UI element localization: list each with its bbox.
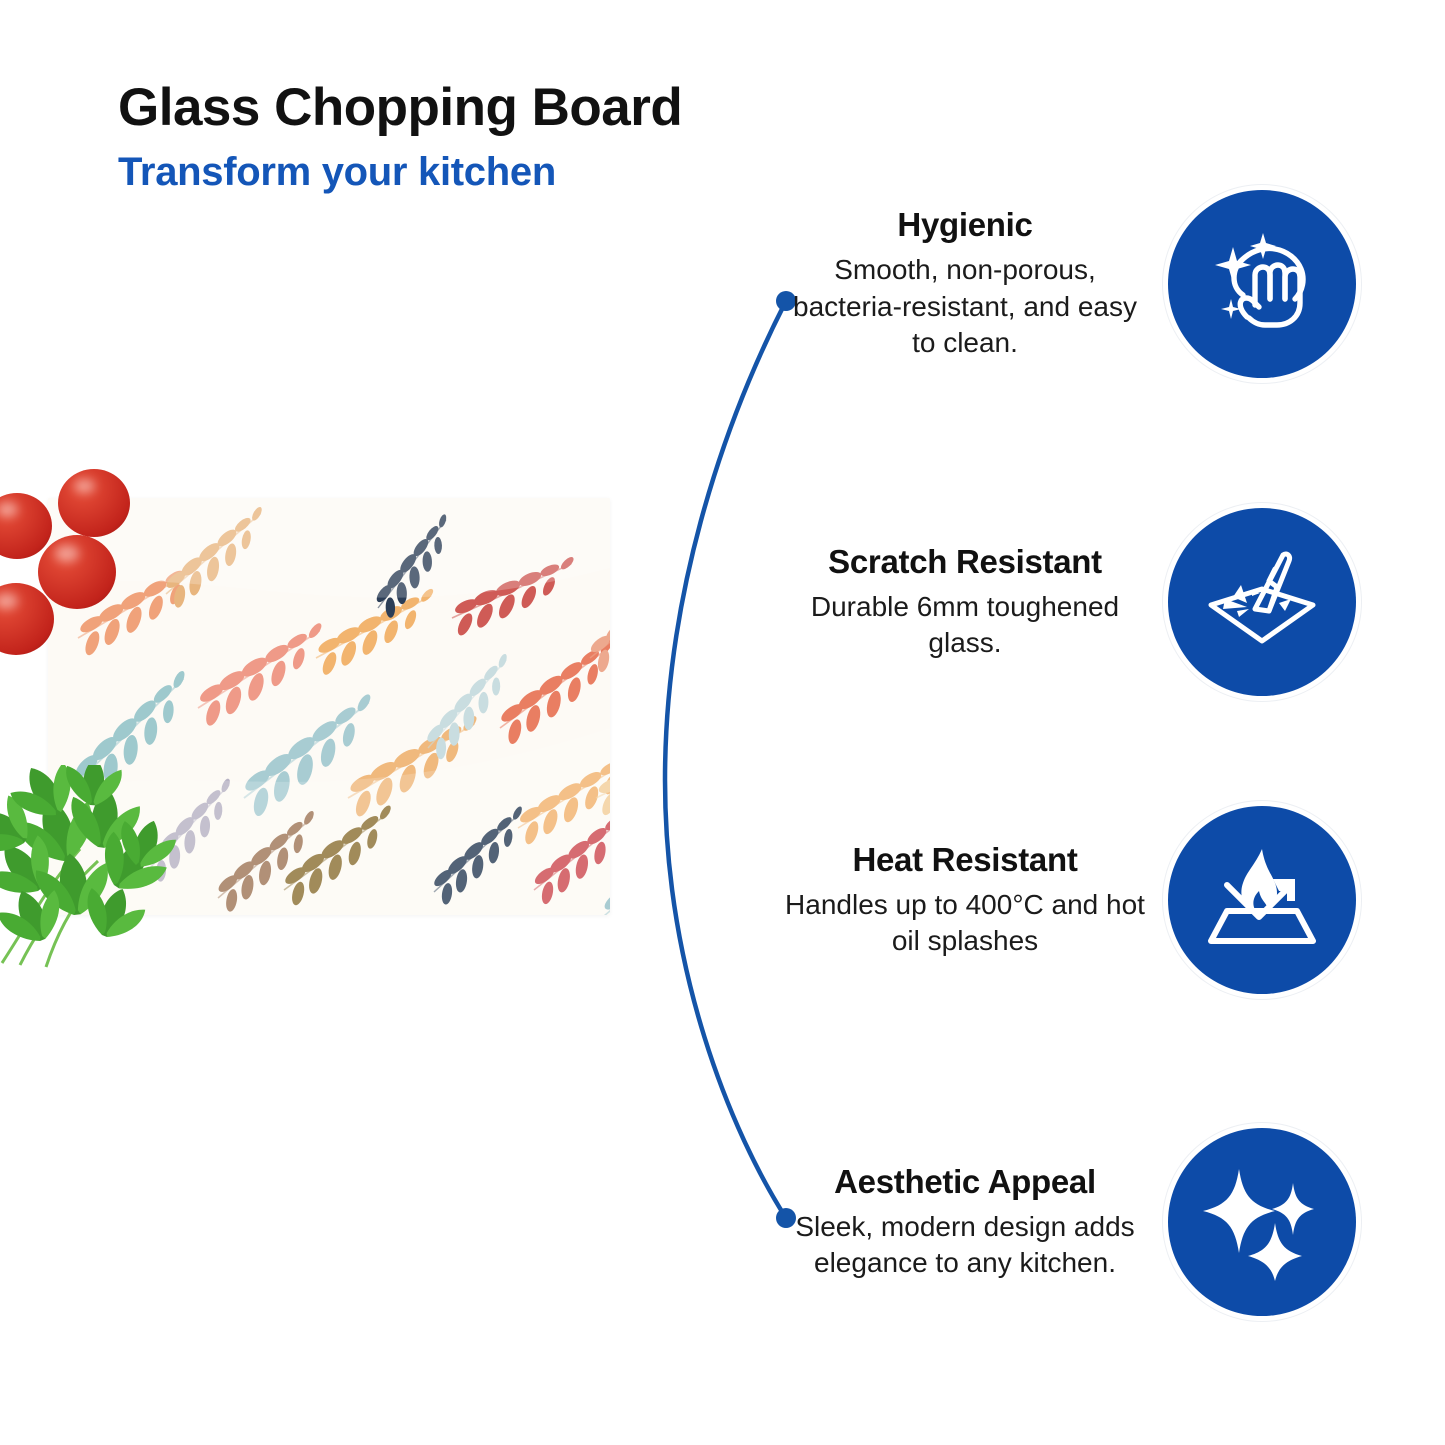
- feature-title: Hygienic: [897, 206, 1032, 244]
- flame-deflect-icon: [1203, 841, 1321, 959]
- header-block: Glass Chopping Board Transform your kitc…: [118, 80, 878, 194]
- feature-title: Heat Resistant: [852, 841, 1077, 879]
- feature-text-aesthetic-appeal: Aesthetic Appeal Sleek, modern design ad…: [780, 1163, 1168, 1282]
- infographic-canvas: Glass Chopping Board Transform your kitc…: [0, 0, 1445, 1445]
- feature-description: Sleek, modern design adds elegance to an…: [780, 1209, 1150, 1282]
- parsley-graphic: [0, 765, 209, 975]
- feature-title: Scratch Resistant: [828, 543, 1102, 581]
- tomato: [58, 469, 130, 537]
- feature-icon-badge-scratch-resistant[interactable]: [1168, 508, 1356, 696]
- feature-icon-badge-aesthetic-appeal[interactable]: [1168, 1128, 1356, 1316]
- tomato: [0, 493, 52, 559]
- page-title: Glass Chopping Board: [118, 80, 878, 136]
- parsley-bunch: [0, 765, 209, 975]
- knife-on-surface-icon: [1203, 543, 1321, 661]
- feature-icon-badge-heat-resistant[interactable]: [1168, 806, 1356, 994]
- feature-row-scratch-resistant: Scratch Resistant Durable 6mm toughened …: [780, 508, 1356, 696]
- sparkles-icon: [1201, 1161, 1323, 1283]
- feature-row-aesthetic-appeal: Aesthetic Appeal Sleek, modern design ad…: [780, 1128, 1356, 1316]
- feature-text-scratch-resistant: Scratch Resistant Durable 6mm toughened …: [780, 543, 1168, 662]
- feature-description: Smooth, non-porous, bacteria-resistant, …: [780, 252, 1150, 361]
- hand-wiping-sparkle-icon: [1203, 225, 1321, 343]
- feature-title: Aesthetic Appeal: [834, 1163, 1096, 1201]
- feature-text-hygienic: Hygienic Smooth, non-porous, bacteria-re…: [780, 206, 1168, 361]
- feature-description: Durable 6mm toughened glass.: [780, 589, 1150, 662]
- feature-description: Handles up to 400°C and hot oil splashes: [780, 887, 1150, 960]
- tomato: [38, 535, 116, 609]
- feature-row-hygienic: Hygienic Smooth, non-porous, bacteria-re…: [780, 190, 1356, 378]
- feature-icon-badge-hygienic[interactable]: [1168, 190, 1356, 378]
- feature-row-heat-resistant: Heat Resistant Handles up to 400°C and h…: [780, 806, 1356, 994]
- feature-text-heat-resistant: Heat Resistant Handles up to 400°C and h…: [780, 841, 1168, 960]
- page-subtitle: Transform your kitchen: [118, 150, 878, 194]
- cherry-tomatoes: [0, 455, 200, 655]
- product-photo: [0, 455, 640, 975]
